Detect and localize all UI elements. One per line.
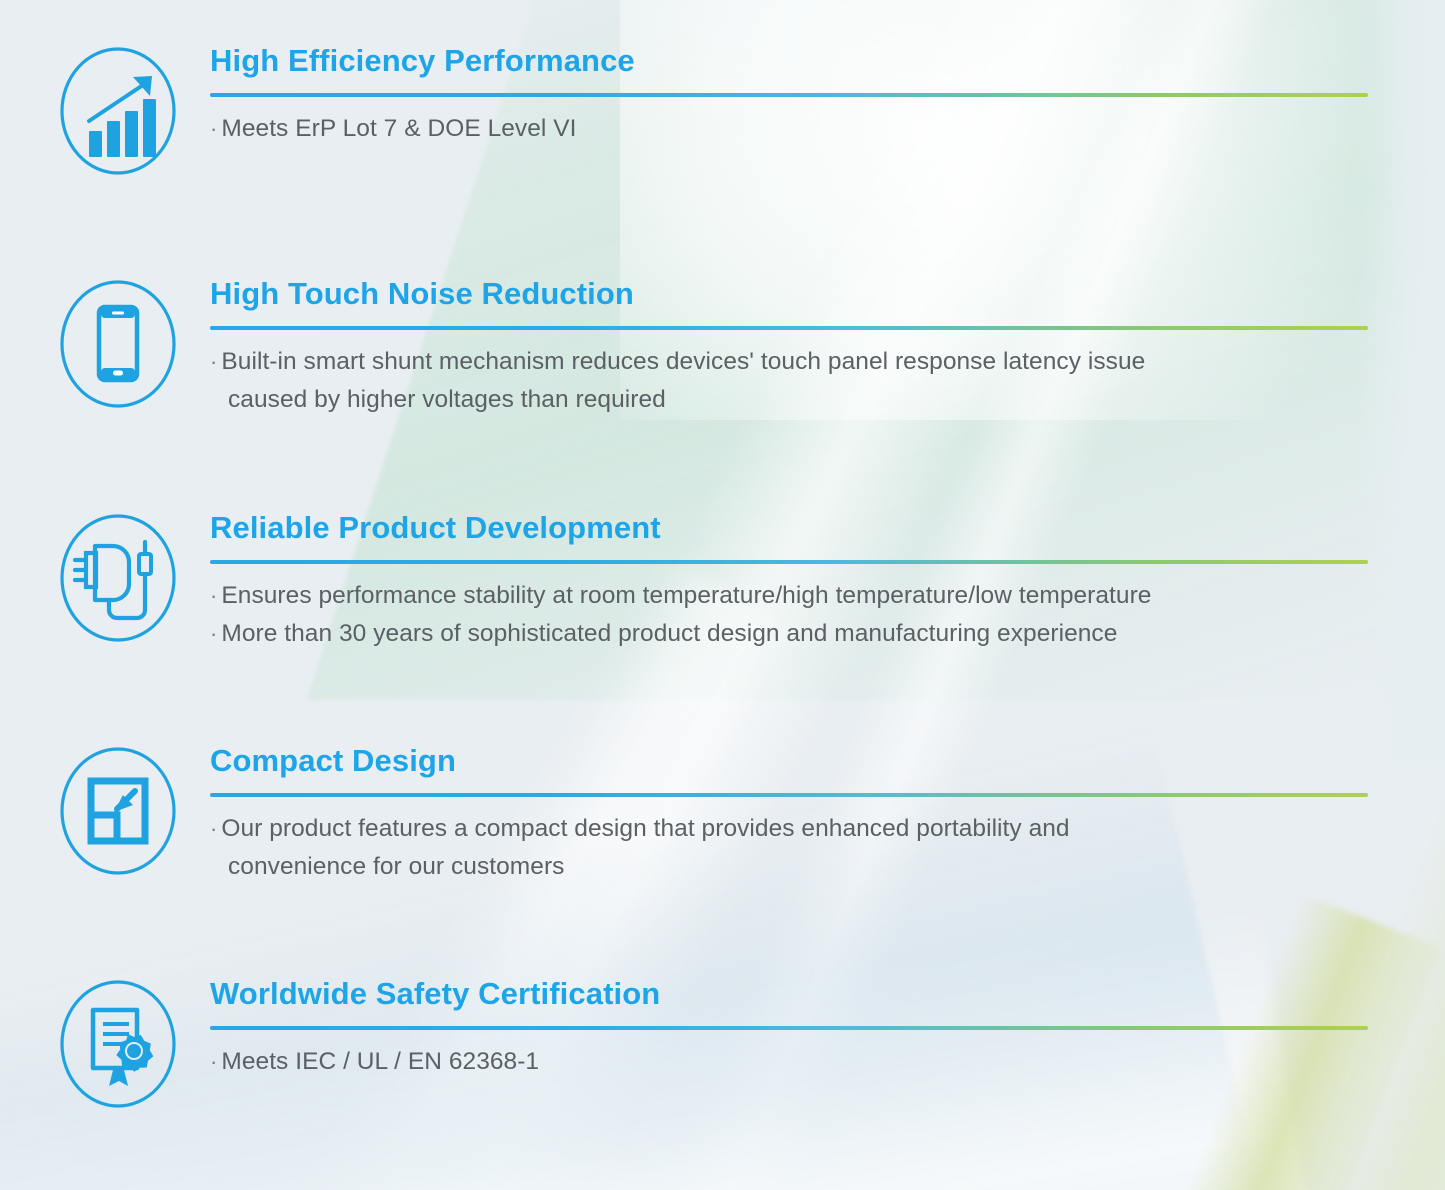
- feature-divider: [210, 793, 1368, 797]
- bar-chart-growth-icon: [57, 45, 179, 177]
- feature-line: caused by higher voltages than required: [210, 381, 1370, 419]
- feature-description: ·Ensures performance stability at room t…: [210, 577, 1370, 653]
- feature-title: Compact Design: [210, 745, 1370, 776]
- bullet-icon: ·: [210, 583, 217, 608]
- feature-line-text: Our product features a compact design th…: [221, 815, 1069, 842]
- feature-body: Reliable Product Development ·Ensures pe…: [210, 512, 1370, 653]
- feature-body: High Touch Noise Reduction ·Built-in sma…: [210, 278, 1370, 419]
- feature-title: High Efficiency Performance: [210, 45, 1370, 76]
- power-adapter-icon: [57, 512, 179, 644]
- feature-divider: [210, 560, 1368, 564]
- feature-line: ·Our product features a compact design t…: [210, 810, 1370, 848]
- feature-title: High Touch Noise Reduction: [210, 278, 1370, 309]
- feature-line-text: Built-in smart shunt mechanism reduces d…: [221, 348, 1145, 375]
- feature-divider: [210, 93, 1368, 97]
- feature-line: ·More than 30 years of sophisticated pro…: [210, 615, 1370, 653]
- feature-divider: [210, 326, 1368, 330]
- feature-line: convenience for our customers: [210, 848, 1370, 886]
- feature-body: Worldwide Safety Certification ·Meets IE…: [210, 978, 1370, 1081]
- bullet-icon: ·: [210, 349, 217, 374]
- feature-line-text: More than 30 years of sophisticated prod…: [221, 620, 1117, 647]
- feature-line: ·Built-in smart shunt mechanism reduces …: [210, 343, 1370, 381]
- feature-title: Reliable Product Development: [210, 512, 1370, 543]
- feature-line-text: Ensures performance stability at room te…: [221, 582, 1151, 609]
- bullet-icon: ·: [210, 621, 217, 646]
- bullet-icon: ·: [210, 816, 217, 841]
- feature-description: ·Built-in smart shunt mechanism reduces …: [210, 343, 1370, 419]
- smartphone-icon: [57, 278, 179, 410]
- compact-resize-icon: [57, 745, 179, 877]
- certificate-award-icon: [57, 978, 179, 1110]
- feature-line-text: convenience for our customers: [210, 848, 564, 886]
- feature-description: ·Meets IEC / UL / EN 62368-1: [210, 1043, 1370, 1081]
- feature-line: ·Meets ErP Lot 7 & DOE Level VI: [210, 110, 1370, 148]
- feature-line: ·Ensures performance stability at room t…: [210, 577, 1370, 615]
- bullet-icon: ·: [210, 116, 217, 141]
- bullet-icon: ·: [210, 1049, 217, 1074]
- feature-divider: [210, 1026, 1368, 1030]
- feature-line-text: Meets ErP Lot 7 & DOE Level VI: [221, 115, 576, 142]
- feature-line-text: Meets IEC / UL / EN 62368-1: [221, 1048, 539, 1075]
- feature-title: Worldwide Safety Certification: [210, 978, 1370, 1009]
- feature-line: ·Meets IEC / UL / EN 62368-1: [210, 1043, 1370, 1081]
- feature-line-text: caused by higher voltages than required: [210, 381, 666, 419]
- feature-body: High Efficiency Performance ·Meets ErP L…: [210, 45, 1370, 148]
- feature-body: Compact Design ·Our product features a c…: [210, 745, 1370, 886]
- feature-description: ·Meets ErP Lot 7 & DOE Level VI: [210, 110, 1370, 148]
- feature-highlights-page: High Efficiency Performance ·Meets ErP L…: [0, 0, 1445, 1190]
- feature-description: ·Our product features a compact design t…: [210, 810, 1370, 886]
